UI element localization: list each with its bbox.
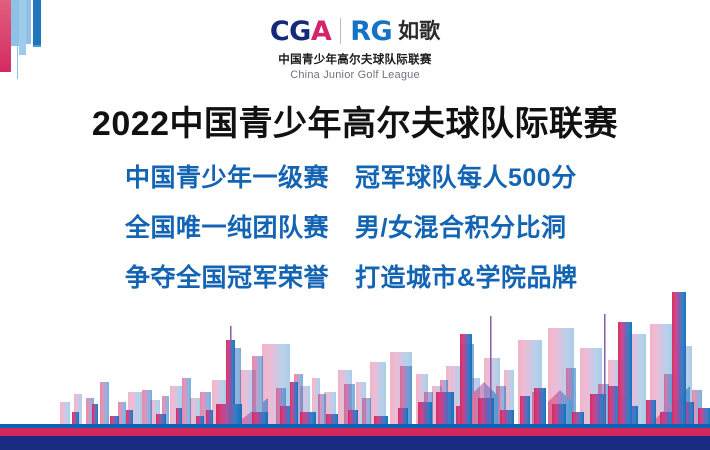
logo-subtitle-chinese: 中国青少年高尔夫球队际联赛 xyxy=(278,51,431,67)
city-skyline-icon xyxy=(0,274,710,424)
logo-subtitle-english: China Junior Golf League xyxy=(290,69,420,81)
cga-wordmark: CGA xyxy=(270,18,331,45)
rg-wordmark: RG xyxy=(350,18,392,45)
slogan-right-text: 冠军球队每人500分 xyxy=(355,158,585,194)
cga-wordmark-a: A xyxy=(311,16,331,47)
slogan-row: 中国青少年一级赛 冠军球队每人500分 xyxy=(125,158,585,194)
footer-band-crimson xyxy=(0,428,710,436)
poster-canvas: CGA RG 如歌 中国青少年高尔夫球队际联赛 China Junior Gol… xyxy=(0,0,710,450)
logo-wordmark-row: CGA RG 如歌 xyxy=(270,16,440,46)
rg-wordmark-chinese: 如歌 xyxy=(398,21,440,42)
logo-divider xyxy=(340,18,341,44)
page-title: 2022中国青少年高尔夫球队际联赛 xyxy=(0,96,710,145)
slogan-left-text: 中国青少年一级赛 xyxy=(125,158,355,194)
logo-lockup: CGA RG 如歌 中国青少年高尔夫球队际联赛 China Junior Gol… xyxy=(0,16,710,81)
slogan-left-text: 全国唯一纯团队赛 xyxy=(125,208,355,244)
slogan-right-text: 男/女混合积分比洞 xyxy=(355,208,585,244)
footer-band-navy xyxy=(0,436,710,450)
slogan-row: 全国唯一纯团队赛 男/女混合积分比洞 xyxy=(125,208,585,244)
cga-wordmark-cg: CG xyxy=(270,16,311,47)
